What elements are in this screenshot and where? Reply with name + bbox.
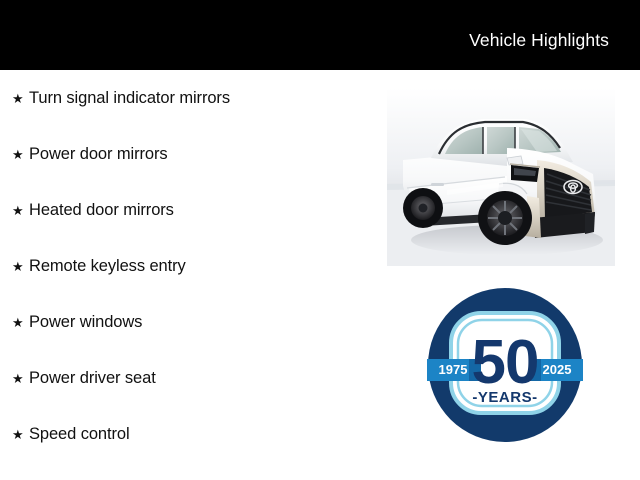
feature-label: Remote keyless entry — [29, 256, 380, 276]
page-header: Vehicle Highlights — [0, 0, 640, 70]
content-area: ★ Turn signal indicator mirrors ★ Power … — [0, 70, 640, 480]
feature-label: Heated door mirrors — [29, 200, 380, 220]
list-item: ★ Remote keyless entry — [0, 238, 380, 294]
vehicle-photo — [387, 88, 615, 266]
anniversary-badge: 1975 2025 50 -YEARS- — [427, 287, 583, 443]
list-item: ★ Power door mirrors — [0, 126, 380, 182]
feature-label: Power driver seat — [29, 368, 380, 388]
list-item: ★ Power driver seat — [0, 350, 380, 406]
start-year-text: 1975 — [439, 362, 468, 377]
feature-label: Speed control — [29, 424, 380, 444]
vehicle-highlights-list: ★ Turn signal indicator mirrors ★ Power … — [0, 70, 380, 462]
star-bullet-icon: ★ — [12, 372, 29, 385]
star-bullet-icon: ★ — [12, 260, 29, 273]
badge-number: 50 — [472, 328, 539, 397]
feature-label: Turn signal indicator mirrors — [29, 88, 380, 108]
star-bullet-icon: ★ — [12, 92, 29, 105]
list-item: ★ Speed control — [0, 406, 380, 462]
list-item: ★ Heated door mirrors — [0, 182, 380, 238]
list-item: ★ Power windows — [0, 294, 380, 350]
feature-label: Power door mirrors — [29, 144, 380, 164]
end-year-text: 2025 — [543, 362, 572, 377]
star-bullet-icon: ★ — [12, 148, 29, 161]
feature-label: Power windows — [29, 312, 380, 332]
star-bullet-icon: ★ — [12, 204, 29, 217]
star-bullet-icon: ★ — [12, 316, 29, 329]
star-bullet-icon: ★ — [12, 428, 29, 441]
list-item: ★ Turn signal indicator mirrors — [0, 70, 380, 126]
page-title: Vehicle Highlights — [469, 30, 609, 50]
badge-years-label: -YEARS- — [472, 389, 537, 406]
